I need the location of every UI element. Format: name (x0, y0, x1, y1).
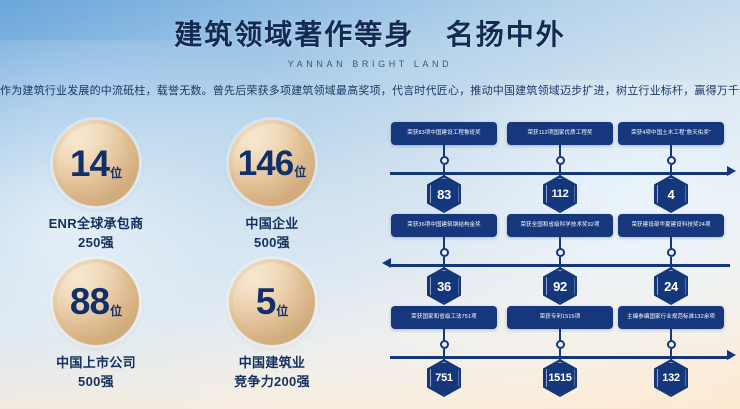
stat-card-china-enterprise: 146 位 中国企业 500强 (184, 120, 360, 253)
stat-label: ENR全球承包商 250强 (49, 215, 144, 253)
stat-label-line1: ENR全球承包商 (49, 215, 144, 234)
award-count-hex-badge: 132 (654, 359, 688, 397)
stat-unit: 位 (110, 167, 122, 179)
poster-canvas: 建筑领域著作等身 名扬中外 YANNAN BRIGHT LAND 作为建筑行业发… (0, 0, 740, 409)
arrow-right-icon (727, 350, 736, 360)
timeline-row-3: 荣获国家和省级工法751项 751 荣获专利1515项 1515 主编参编国家行… (382, 306, 732, 398)
award-count-hex-badge: 4 (654, 175, 688, 213)
connector-drop (559, 165, 561, 176)
connector-drop (443, 257, 445, 268)
stat-card-listed-company: 88 位 中国上市公司 500强 (8, 259, 184, 392)
page-lead-paragraph: 作为建筑行业发展的中流砥柱，载誉无数。曾先后荣获多项建筑领域最高奖项，代言时代匠… (0, 82, 740, 98)
page-subtitle-en: YANNAN BRIGHT LAND (0, 59, 740, 69)
award-caption: 荣获83项中国建设工程鲁班奖 (391, 122, 497, 145)
stat-coin-content: 14 位 (70, 145, 122, 182)
stat-coin: 5 位 (229, 259, 315, 345)
stat-coin-content: 146 位 (238, 146, 306, 181)
connector-drop (559, 349, 561, 360)
node-ring-icon (440, 248, 449, 257)
timeline-node[interactable]: 荣获112项国家优质工程奖 112 (507, 122, 613, 213)
stat-number: 5 (256, 283, 276, 320)
connector-drop (670, 165, 672, 176)
node-ring-icon (556, 248, 565, 257)
award-count-value: 24 (664, 279, 678, 294)
timeline-node[interactable]: 荣获全国和省级科学技术奖92项 92 (507, 214, 613, 305)
award-caption: 荣获专利1515项 (507, 306, 613, 329)
page-header: 建筑领域著作等身 名扬中外 YANNAN BRIGHT LAND 作为建筑行业发… (0, 0, 740, 98)
arrow-right-icon (727, 166, 736, 176)
stat-label-line1: 中国建筑业 (234, 354, 310, 373)
timeline-node[interactable]: 荣获国家和省级工法751项 751 (391, 306, 497, 397)
connector-drop (443, 165, 445, 176)
award-caption: 荣获4项中国土木工程“詹天佑奖” (618, 122, 724, 145)
stat-unit: 位 (110, 305, 122, 317)
award-count-hex-badge: 112 (543, 175, 577, 213)
award-caption: 主编参编国家行业规范标准132余项 (618, 306, 724, 329)
award-count-hex-badge: 36 (427, 267, 461, 305)
timeline-node[interactable]: 荣获36项中国建筑钢结构金奖 36 (391, 214, 497, 305)
award-caption: 荣获国家和省级工法751项 (391, 306, 497, 329)
timeline-node[interactable]: 荣获83项中国建设工程鲁班奖 83 (391, 122, 497, 213)
stat-card-competitiveness: 5 位 中国建筑业 竞争力200强 (184, 259, 360, 392)
node-ring-icon (667, 156, 676, 165)
stat-card-enr: 14 位 ENR全球承包商 250强 (8, 120, 184, 253)
timeline-node[interactable]: 荣获建设部华夏建设科技奖24项 24 (618, 214, 724, 305)
stat-label-line2: 500强 (56, 373, 136, 392)
award-caption: 荣获全国和省级科学技术奖92项 (507, 214, 613, 237)
award-count-hex-badge: 83 (427, 175, 461, 213)
timeline-node[interactable]: 荣获专利1515项 1515 (507, 306, 613, 397)
stat-label: 中国建筑业 竞争力200强 (234, 354, 310, 392)
timeline-node[interactable]: 主编参编国家行业规范标准132余项 132 (618, 306, 724, 397)
stat-label-line1: 中国企业 (245, 215, 298, 234)
connector-drop (443, 349, 445, 360)
node-ring-icon (440, 340, 449, 349)
award-caption: 荣获36项中国建筑钢结构金奖 (391, 214, 497, 237)
award-caption: 荣获建设部华夏建设科技奖24项 (618, 214, 724, 237)
stat-unit: 位 (276, 305, 288, 317)
node-ring-icon (556, 340, 565, 349)
award-count-value: 92 (553, 279, 567, 294)
stat-label-line2: 250强 (49, 234, 144, 253)
page-title: 建筑领域著作等身 名扬中外 (0, 18, 740, 52)
award-count-hex-badge: 1515 (543, 359, 577, 397)
award-count-hex-badge: 751 (427, 359, 461, 397)
award-count-value: 4 (668, 187, 675, 202)
stat-label: 中国企业 500强 (245, 215, 298, 253)
award-count-value: 83 (437, 187, 451, 202)
stat-coin: 146 位 (229, 120, 315, 206)
award-count-hex-badge: 92 (543, 267, 577, 305)
stat-number: 88 (70, 283, 109, 320)
stat-label-line2: 竞争力200强 (234, 373, 310, 392)
stat-coin-content: 5 位 (256, 283, 289, 320)
award-count-value: 112 (552, 188, 569, 200)
stat-label: 中国上市公司 500强 (56, 354, 136, 392)
node-ring-icon (556, 156, 565, 165)
stat-label-line1: 中国上市公司 (56, 354, 136, 373)
arrow-left-icon (382, 258, 391, 268)
award-count-value: 36 (437, 279, 451, 294)
award-count-value: 751 (435, 372, 452, 384)
timeline-row-1: 荣获83项中国建设工程鲁班奖 83 荣获112项国家优质工程奖 112 荣获4项… (382, 122, 732, 214)
node-ring-icon (667, 248, 676, 257)
award-count-value: 1515 (548, 372, 571, 384)
award-count-value: 132 (662, 372, 679, 384)
stats-grid: 14 位 ENR全球承包商 250强 146 位 中国企业 500强 (8, 120, 360, 391)
node-ring-icon (667, 340, 676, 349)
stat-unit: 位 (294, 166, 306, 178)
page-title-part2: 名扬中外 (446, 19, 566, 50)
stat-coin-content: 88 位 (70, 283, 122, 320)
award-count-hex-badge: 24 (654, 267, 688, 305)
connector-drop (670, 257, 672, 268)
stat-label-line2: 500强 (245, 234, 298, 253)
stat-coin: 14 位 (53, 120, 139, 206)
stat-number: 146 (238, 146, 293, 181)
award-caption: 荣获112项国家优质工程奖 (507, 122, 613, 145)
awards-timeline-panel: 荣获83项中国建设工程鲁班奖 83 荣获112项国家优质工程奖 112 荣获4项… (382, 122, 732, 400)
timeline-row-2: 荣获36项中国建筑钢结构金奖 36 荣获全国和省级科学技术奖92项 92 荣获建… (382, 214, 732, 306)
page-title-part1: 建筑领域著作等身 (174, 19, 414, 50)
connector-drop (559, 257, 561, 268)
stat-number: 14 (70, 145, 109, 182)
stat-coin: 88 位 (53, 259, 139, 345)
connector-drop (670, 349, 672, 360)
timeline-node[interactable]: 荣获4项中国土木工程“詹天佑奖” 4 (618, 122, 724, 213)
node-ring-icon (440, 156, 449, 165)
